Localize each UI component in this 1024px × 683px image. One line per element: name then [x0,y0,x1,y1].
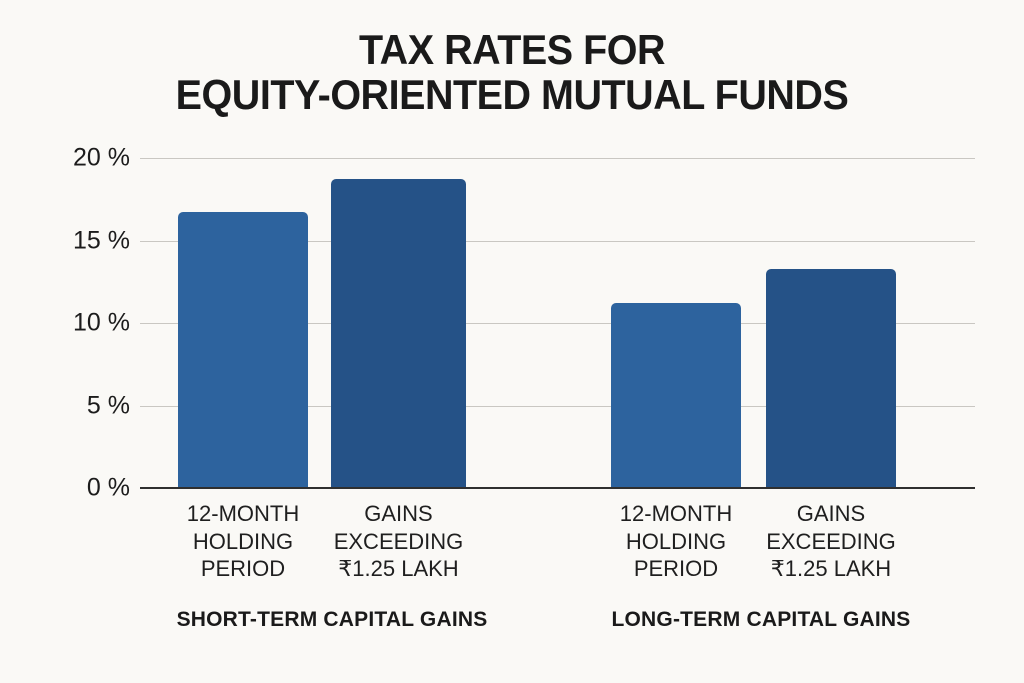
y-axis-tick-label: 15 % [44,226,130,255]
bar[interactable] [766,269,896,488]
bar[interactable] [611,303,741,488]
chart-container: TAX RATES FOR EQUITY-ORIENTED MUTUAL FUN… [0,0,1024,683]
plot-area: 20 %15 %10 %5 %0 % [140,158,975,488]
category-label: GAINS EXCEEDING ₹1.25 LAKH [746,500,916,583]
chart-title: TAX RATES FOR EQUITY-ORIENTED MUTUAL FUN… [0,28,1024,118]
category-label: 12-MONTH HOLDING PERIOD [158,500,328,583]
chart-title-line-1: TAX RATES FOR [31,28,994,73]
gridline [140,158,975,159]
group-label: LONG-TERM CAPITAL GAINS [511,608,1011,632]
x-axis-line [140,487,975,489]
group-label: SHORT-TERM CAPITAL GAINS [82,608,582,632]
chart-title-line-2: EQUITY-ORIENTED MUTUAL FUNDS [31,73,994,118]
bar[interactable] [178,212,308,488]
y-axis-tick-label: 5 % [44,391,130,420]
category-label: GAINS EXCEEDING ₹1.25 LAKH [311,500,486,583]
category-label: 12-MONTH HOLDING PERIOD [591,500,761,583]
y-axis-tick-label: 20 % [44,144,130,173]
y-axis-tick-label: 10 % [44,309,130,338]
y-axis-tick-label: 0 % [44,474,130,503]
bar[interactable] [331,179,466,488]
